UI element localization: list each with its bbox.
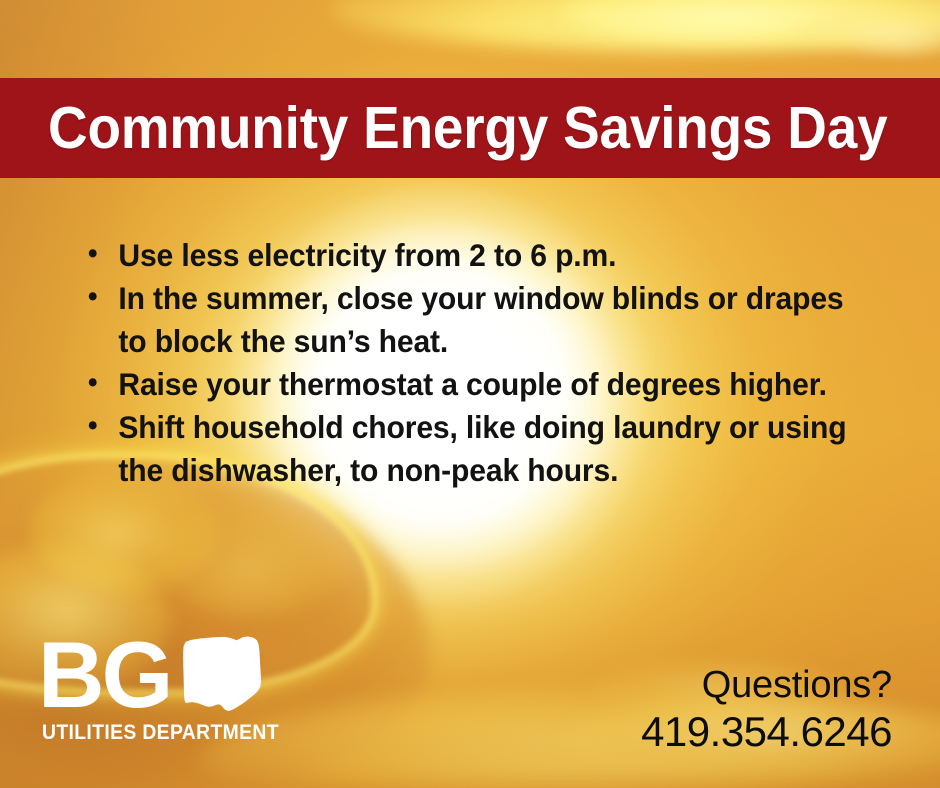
energy-tips-list: Use less electricity from 2 to 6 p.m. In… — [84, 234, 884, 492]
ohio-state-icon — [179, 636, 267, 714]
phone-number: 419.354.6246 — [641, 708, 892, 756]
bg-utilities-logo: BG UTILITIES DEPARTMENT — [38, 636, 278, 745]
questions-label: Questions? — [641, 662, 892, 708]
list-item: Raise your thermostat a couple of degree… — [84, 363, 848, 406]
logo-mark-row: BG — [38, 636, 278, 714]
logo-monogram: BG — [38, 636, 170, 713]
list-item: Use less electricity from 2 to 6 p.m. — [84, 234, 848, 277]
list-item: In the summer, close your window blinds … — [84, 277, 848, 363]
logo-subtitle: UTILITIES DEPARTMENT — [42, 720, 254, 745]
energy-savings-poster: Community Energy Savings Day Use less el… — [0, 0, 940, 788]
contact-block: Questions? 419.354.6246 — [641, 662, 892, 756]
page-title: Community Energy Savings Day — [48, 99, 887, 158]
cloud-puff-right — [150, 505, 350, 615]
title-banner: Community Energy Savings Day — [0, 78, 940, 178]
list-item: Shift household chores, like doing laund… — [84, 406, 848, 492]
